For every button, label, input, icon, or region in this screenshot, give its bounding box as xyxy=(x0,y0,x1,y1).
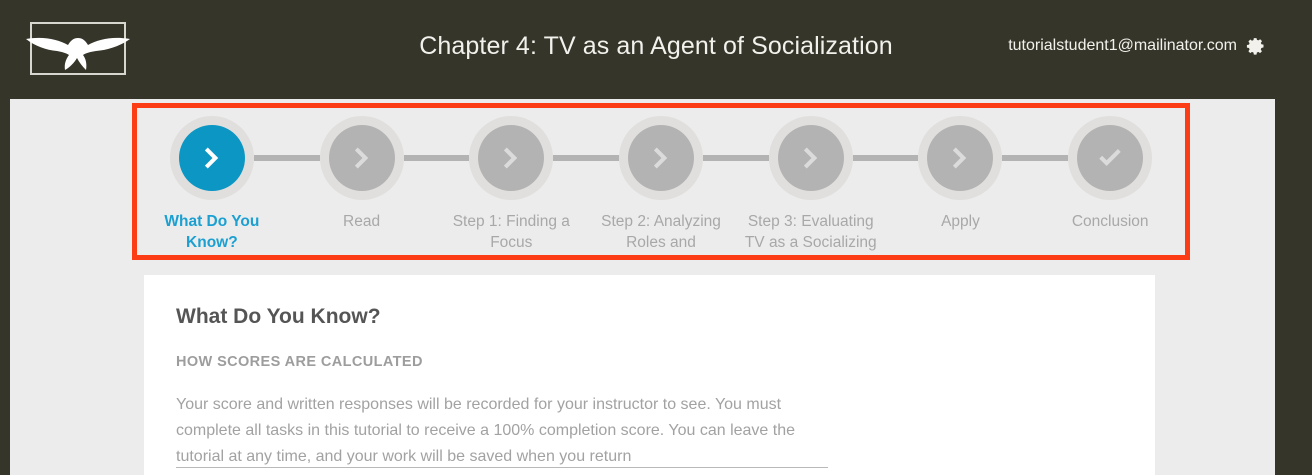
stepper-step-1[interactable]: Read xyxy=(287,108,437,232)
account-email: tutorialstudent1@mailinator.com xyxy=(1008,37,1237,55)
step-connector xyxy=(553,155,619,161)
step-connector xyxy=(703,155,769,161)
step-circle[interactable] xyxy=(918,116,1002,200)
chevron-right-icon xyxy=(945,143,975,173)
step-circle[interactable] xyxy=(320,116,404,200)
step-connector xyxy=(254,155,320,161)
step-label: Read xyxy=(296,211,428,232)
stepper-highlight-box: What Do You Know?ReadStep 1: Finding a F… xyxy=(132,103,1190,260)
content-title: What Do You Know? xyxy=(176,305,1123,329)
page-body: What Do You Know?ReadStep 1: Finding a F… xyxy=(10,99,1275,475)
step-circle-inner xyxy=(778,125,844,191)
stepper-step-0[interactable]: What Do You Know? xyxy=(137,108,287,253)
step-circle[interactable] xyxy=(170,116,254,200)
chevron-right-icon xyxy=(197,143,227,173)
step-label: Step 1: Finding a Focus xyxy=(445,211,577,253)
content-paragraph: Your score and written responses will be… xyxy=(176,392,836,470)
chevron-right-icon xyxy=(646,143,676,173)
chevron-right-icon xyxy=(347,143,377,173)
step-circle-inner xyxy=(1077,125,1143,191)
step-label: Step 2: Analyzing Roles and Portrayals xyxy=(595,211,727,260)
chevron-right-icon xyxy=(496,143,526,173)
stepper-step-6[interactable]: Conclusion xyxy=(1035,108,1185,232)
step-circle[interactable] xyxy=(1068,116,1152,200)
gear-icon[interactable] xyxy=(1246,36,1266,56)
step-connector xyxy=(404,155,470,161)
app-header: Chapter 4: TV as an Agent of Socializati… xyxy=(0,0,1312,99)
step-circle-inner xyxy=(179,125,245,191)
step-circle[interactable] xyxy=(769,116,853,200)
stepper-step-5[interactable]: Apply xyxy=(886,108,1036,232)
stepper-step-4[interactable]: Step 3: Evaluating TV as a Socializing A… xyxy=(736,108,886,260)
step-connector xyxy=(1002,155,1068,161)
step-label: Step 3: Evaluating TV as a Socializing A… xyxy=(745,211,877,260)
step-circle-inner xyxy=(927,125,993,191)
stepper-step-2[interactable]: Step 1: Finding a Focus xyxy=(436,108,586,253)
stepper-step-3[interactable]: Step 2: Analyzing Roles and Portrayals xyxy=(586,108,736,260)
check-icon xyxy=(1095,143,1125,173)
step-label: Conclusion xyxy=(1044,211,1176,232)
content-subtitle: HOW SCORES ARE CALCULATED xyxy=(176,354,1123,370)
content-divider xyxy=(176,467,828,468)
step-label: Apply xyxy=(894,211,1026,232)
step-label: What Do You Know? xyxy=(146,211,278,253)
account-area[interactable]: tutorialstudent1@mailinator.com xyxy=(1008,36,1266,56)
step-circle-inner xyxy=(628,125,694,191)
step-circle-inner xyxy=(329,125,395,191)
step-circle[interactable] xyxy=(469,116,553,200)
progress-stepper: What Do You Know?ReadStep 1: Finding a F… xyxy=(137,108,1185,255)
step-connector xyxy=(853,155,919,161)
content-card: What Do You Know? HOW SCORES ARE CALCULA… xyxy=(144,275,1155,475)
step-circle[interactable] xyxy=(619,116,703,200)
step-circle-inner xyxy=(478,125,544,191)
chevron-right-icon xyxy=(796,143,826,173)
